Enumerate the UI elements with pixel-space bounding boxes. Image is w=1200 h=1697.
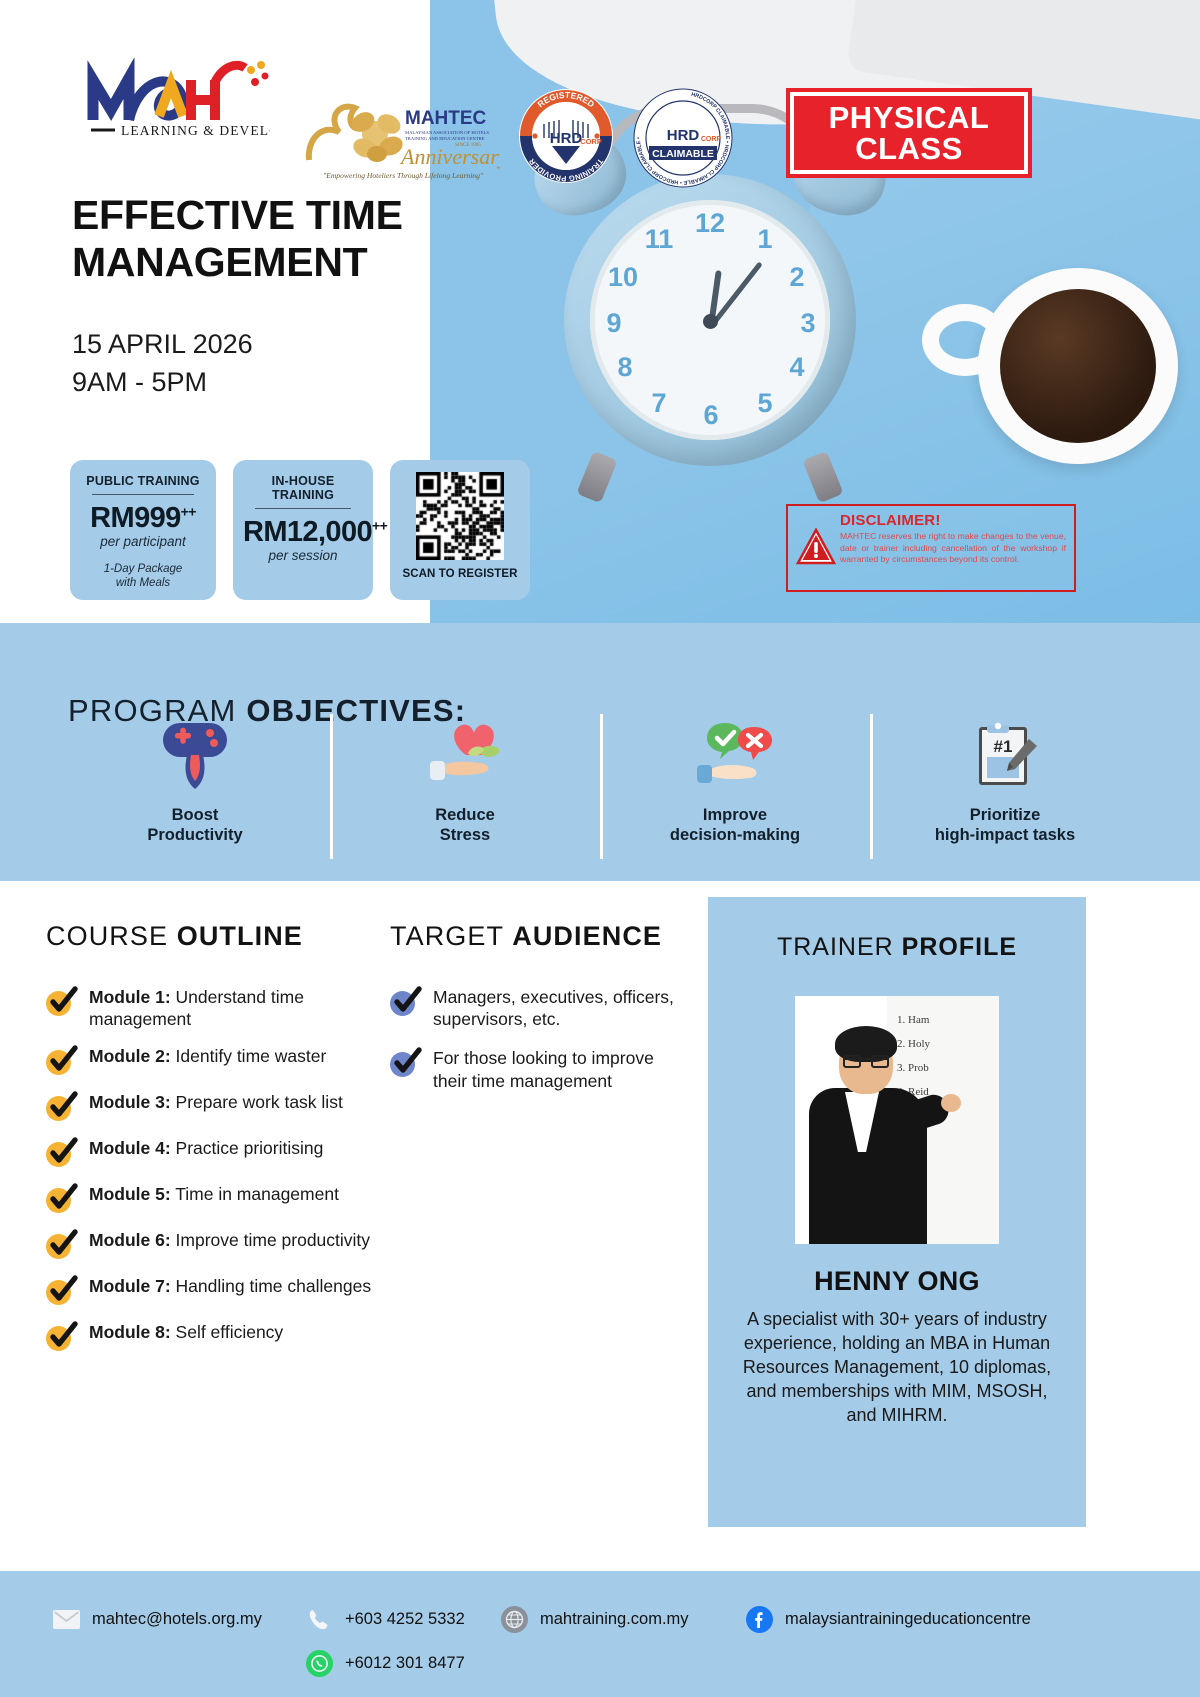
- course-module-list: Module 1: Understand time managementModu…: [46, 986, 376, 1352]
- footer-website-text: mahtraining.com.my: [540, 1610, 689, 1629]
- check-icon: [46, 1230, 76, 1260]
- check-icon: [390, 987, 420, 1017]
- mah-learning-development-logo: LEARNING & DEVELOPMENT: [85, 58, 270, 140]
- facebook-icon: [745, 1605, 773, 1633]
- course-module-text: Module 7: Handling time challenges: [89, 1275, 371, 1297]
- clipboard-number-one-icon: #1: [878, 719, 1132, 791]
- target-audience-column: TARGET AUDIENCE Managers, executives, of…: [390, 921, 690, 1109]
- objective-3-line1: Prioritize: [878, 805, 1132, 825]
- physical-class-badge: PHYSICAL CLASS: [790, 92, 1028, 174]
- course-module-label: Module 7:: [89, 1276, 171, 1296]
- footer-email[interactable]: mahtec@hotels.org.my: [52, 1605, 262, 1633]
- hrd-badge-text: HRD: [550, 130, 583, 147]
- trainer-photo: 1. Ham 2. Holy 3. Prob 4. Reid 5. Strat: [795, 996, 999, 1244]
- pricing-inhouse-heading: IN-HOUSE TRAINING: [243, 474, 363, 502]
- hrd-corp-text: CORP: [580, 137, 602, 146]
- course-module-item: Module 6: Improve time productivity: [46, 1229, 376, 1260]
- phone-icon: [305, 1605, 333, 1633]
- target-audience-item: Managers, executives, officers, supervis…: [390, 986, 690, 1030]
- objective-1-line1: Reduce: [338, 805, 592, 825]
- trainer-hand: [941, 1094, 961, 1112]
- pricing-inhouse-price: RM12,000++: [243, 516, 387, 549]
- clock-num-2: 2: [782, 262, 812, 293]
- mahtec-wordmark: MAHTEC: [405, 108, 487, 129]
- trainer-profile-panel: TRAINER PROFILE 1. Ham 2. Holy 3. Prob 4…: [708, 897, 1086, 1527]
- email-icon: [52, 1605, 80, 1633]
- footer-section: mahtec@hotels.org.my +603 4252 5332 +601…: [0, 1571, 1200, 1697]
- footer-facebook[interactable]: malaysiantrainingeducationcentre: [745, 1605, 1031, 1633]
- trainer-glasses: [843, 1058, 889, 1070]
- title-line-2: MANAGEMENT: [72, 239, 472, 286]
- clock-num-1: 1: [750, 224, 780, 255]
- target-audience-item: For those looking to improve their time …: [390, 1047, 690, 1091]
- objective-2-line1: Improve: [608, 805, 862, 825]
- qr-card[interactable]: SCAN TO REGISTER: [390, 460, 530, 600]
- event-time: 9AM - 5PM: [72, 363, 253, 401]
- course-outline-heading: COURSE OUTLINE: [46, 921, 376, 952]
- hrd-corp-claimable-badge: HRD CORP CLAIMABLE HRDCORP CLAIMABLE • H…: [633, 88, 733, 188]
- check-icon: [46, 1184, 76, 1214]
- objective-0-line2: Productivity: [68, 825, 322, 845]
- footer-phone-text: +603 4252 5332: [345, 1610, 465, 1629]
- hrd-claimable-corp-text: CORP: [701, 136, 722, 143]
- check-icon: [46, 1092, 76, 1122]
- clock-body: 12 1 2 3 4 5 6 7 8 9 10 11: [564, 174, 856, 466]
- clipboard-rank-text: #1: [994, 737, 1013, 756]
- course-outline-heading-light: COURSE: [46, 921, 177, 951]
- clock-face: 12 1 2 3 4 5 6 7 8 9 10 11: [590, 200, 830, 440]
- course-module-text: Module 3: Prepare work task list: [89, 1091, 343, 1113]
- course-module-text: Module 2: Identify time waster: [89, 1045, 326, 1067]
- clock-pivot: [703, 314, 718, 329]
- coffee-cup: [978, 268, 1178, 464]
- clock-num-5: 5: [750, 388, 780, 419]
- course-module-text: Module 4: Practice prioritising: [89, 1137, 323, 1159]
- claimable-label: CLAIMABLE: [652, 148, 714, 160]
- disclaimer-title: DISCLAIMER!: [840, 512, 1066, 529]
- footer-website[interactable]: mahtraining.com.my: [500, 1605, 689, 1633]
- coffee-liquid: [1000, 289, 1156, 443]
- title-line-1: EFFECTIVE TIME: [72, 192, 472, 239]
- mahtec-anniversary-logo: MAHTEC MALAYSIAN ASSOCIATION OF HOTELS T…: [305, 98, 500, 184]
- target-audience-heading-bold: AUDIENCE: [512, 921, 662, 951]
- disclaimer-body: MAHTEC reserves the right to make change…: [840, 531, 1066, 566]
- clock-num-4: 4: [782, 352, 812, 383]
- divider: [255, 508, 351, 509]
- clock-num-12: 12: [695, 208, 725, 239]
- pricing-card-inhouse: IN-HOUSE TRAINING RM12,000++ per session: [233, 460, 373, 600]
- check-icon: [46, 1046, 76, 1076]
- target-audience-text: Managers, executives, officers, supervis…: [433, 986, 690, 1030]
- pricing-public-note-2: with Meals: [80, 576, 206, 590]
- mahtec-fullname-line2: TRAINING AND EDUCATION CENTRE: [405, 136, 485, 141]
- objective-prioritize-high-impact-tasks: #1 Prioritize high-impact tasks: [870, 719, 1140, 845]
- course-outline-column: COURSE OUTLINE Module 1: Understand time…: [46, 921, 376, 1367]
- footer-facebook-text: malaysiantrainingeducationcentre: [785, 1610, 1031, 1629]
- course-module-item: Module 1: Understand time management: [46, 986, 376, 1030]
- objectives-grid: Boost Productivity Reduce Stress: [60, 719, 1140, 845]
- hibiscus-30-mark: [309, 107, 406, 162]
- pricing-public-price: RM999++: [90, 502, 196, 535]
- pricing-inhouse-unit: per session: [243, 548, 363, 563]
- trainer-heading-bold: PROFILE: [902, 933, 1017, 961]
- course-module-text: Module 1: Understand time management: [89, 986, 376, 1030]
- cup-handle: [922, 304, 1008, 376]
- program-objectives-section: PROGRAM OBJECTIVES: Boost Productivity: [0, 623, 1200, 881]
- event-datetime: 15 APRIL 2026 9AM - 5PM: [72, 325, 253, 402]
- clock-num-11: 11: [644, 224, 674, 255]
- course-module-label: Module 2:: [89, 1046, 171, 1066]
- target-audience-text: For those looking to improve their time …: [433, 1047, 690, 1091]
- hero-section: 12 1 2 3 4 5 6 7 8 9 10 11: [0, 0, 1200, 625]
- course-module-item: Module 2: Identify time waster: [46, 1045, 376, 1076]
- course-module-label: Module 6:: [89, 1230, 171, 1250]
- course-outline-heading-bold: OUTLINE: [177, 921, 303, 951]
- target-audience-list: Managers, executives, officers, supervis…: [390, 986, 690, 1092]
- pricing-inhouse-amount: RM12,000: [243, 516, 372, 548]
- clock-num-7: 7: [644, 388, 674, 419]
- anniversary-word: Anniversary: [399, 144, 500, 169]
- physical-class-line2: CLASS: [855, 133, 963, 164]
- pricing-public-amount: RM999: [90, 502, 181, 534]
- qr-label: SCAN TO REGISTER: [400, 568, 520, 580]
- check-icon: [46, 987, 76, 1017]
- warning-triangle-icon: [796, 528, 836, 566]
- trainer-heading-light: TRAINER: [777, 933, 902, 961]
- objective-boost-productivity: Boost Productivity: [60, 719, 330, 845]
- course-module-label: Module 1:: [89, 987, 171, 1007]
- course-module-item: Module 5: Time in management: [46, 1183, 376, 1214]
- target-audience-heading-light: TARGET: [390, 921, 512, 951]
- objective-label-1: Reduce Stress: [338, 805, 592, 845]
- check-icon: [390, 1048, 420, 1078]
- mahtec-fullname-line: MALAYSIAN ASSOCIATION OF HOTELS: [405, 130, 489, 135]
- course-module-text: Module 8: Self efficiency: [89, 1321, 283, 1343]
- hrd-corp-registered-training-provider-badge: HRD CORP REGISTERED TRAINING PROVIDER: [518, 88, 614, 184]
- anniversary-since: SINCE 1995: [455, 143, 481, 148]
- clock-num-8: 8: [610, 352, 640, 383]
- trainer-heading: TRAINER PROFILE: [708, 897, 1086, 962]
- objective-label-0: Boost Productivity: [68, 805, 322, 845]
- objective-2-line2: decision-making: [608, 825, 862, 845]
- check-icon: [46, 1322, 76, 1352]
- objective-3-line2: high-impact tasks: [878, 825, 1132, 845]
- clock-num-9: 9: [599, 308, 629, 339]
- whiteboard-line-2: 3. Prob: [897, 1062, 929, 1074]
- footer-whatsapp[interactable]: +6012 301 8477: [305, 1649, 465, 1677]
- course-module-item: Module 8: Self efficiency: [46, 1321, 376, 1352]
- mahtec-logo-mark: MAHTEC MALAYSIAN ASSOCIATION OF HOTELS T…: [305, 98, 500, 184]
- event-date: 15 APRIL 2026: [72, 325, 253, 363]
- mah-logo-tagline: LEARNING & DEVELOPMENT: [121, 123, 270, 138]
- whatsapp-icon: [305, 1649, 333, 1677]
- course-module-text: Module 5: Time in management: [89, 1183, 339, 1205]
- objective-1-line2: Stress: [338, 825, 592, 845]
- check-icon: [46, 1276, 76, 1306]
- clock-num-3: 3: [793, 308, 823, 339]
- pricing-row: PUBLIC TRAINING RM999++ per participant …: [70, 460, 530, 600]
- whiteboard-line-0: 1. Ham: [897, 1014, 929, 1026]
- course-module-label: Module 8:: [89, 1322, 171, 1342]
- footer-phone[interactable]: +603 4252 5332: [305, 1605, 465, 1633]
- clock-foot-right: [802, 451, 843, 503]
- trainer-bio: A specialist with 30+ years of industry …: [732, 1307, 1062, 1428]
- objective-label-3: Prioritize high-impact tasks: [878, 805, 1132, 845]
- hand-heart-leaf-icon: [338, 719, 592, 791]
- alarm-clock-illustration: 12 1 2 3 4 5 6 7 8 9 10 11: [540, 130, 880, 470]
- pricing-inhouse-suffix: ++: [372, 517, 387, 533]
- pricing-card-public: PUBLIC TRAINING RM999++ per participant …: [70, 460, 216, 600]
- body-section: COURSE OUTLINE Module 1: Understand time…: [0, 881, 1200, 1571]
- clock-num-6: 6: [696, 400, 726, 431]
- footer-email-text: mahtec@hotels.org.my: [92, 1610, 262, 1629]
- check-icon: [46, 1138, 76, 1168]
- clock-num-10: 10: [608, 262, 638, 293]
- course-module-label: Module 5:: [89, 1184, 171, 1204]
- pricing-public-unit: per participant: [80, 534, 206, 549]
- objective-reduce-stress: Reduce Stress: [330, 719, 600, 845]
- pricing-public-suffix: ++: [181, 503, 196, 519]
- course-module-item: Module 7: Handling time challenges: [46, 1275, 376, 1306]
- target-audience-heading: TARGET AUDIENCE: [390, 921, 690, 952]
- poster-page: 12 1 2 3 4 5 6 7 8 9 10 11: [0, 0, 1200, 1697]
- rocket-gamepad-icon: [68, 719, 322, 791]
- pricing-public-heading: PUBLIC TRAINING: [80, 474, 206, 488]
- course-module-text: Module 6: Improve time productivity: [89, 1229, 370, 1251]
- divider: [92, 494, 194, 495]
- course-module-item: Module 4: Practice prioritising: [46, 1137, 376, 1168]
- globe-icon: [500, 1605, 528, 1633]
- mah-logo-mark: LEARNING & DEVELOPMENT: [85, 58, 270, 140]
- course-module-item: Module 3: Prepare work task list: [46, 1091, 376, 1122]
- hand-check-cross-icon: [608, 719, 862, 791]
- qr-code[interactable]: [416, 472, 504, 560]
- objective-improve-decision-making: Improve decision-making: [600, 719, 870, 845]
- anniversary-tagline: "Empowering Hoteliers Through Lifelong L…: [323, 171, 484, 180]
- whiteboard-line-1: 2. Holy: [897, 1038, 930, 1050]
- course-module-label: Module 3:: [89, 1092, 171, 1112]
- page-title: EFFECTIVE TIME MANAGEMENT: [72, 192, 472, 285]
- objective-label-2: Improve decision-making: [608, 805, 862, 845]
- trainer-name: HENNY ONG: [708, 1266, 1086, 1297]
- objective-0-line1: Boost: [68, 805, 322, 825]
- pricing-public-note-1: 1-Day Package: [80, 562, 206, 576]
- course-module-label: Module 4:: [89, 1138, 171, 1158]
- hrd-claimable-hrd-text: HRD: [667, 127, 700, 144]
- footer-whatsapp-text: +6012 301 8477: [345, 1654, 465, 1673]
- pricing-public-note: 1-Day Package with Meals: [80, 562, 206, 591]
- logo-bar: LEARNING & DEVELOPMENT MAHTEC MALA: [0, 40, 1200, 160]
- disclaimer-box: DISCLAIMER! MAHTEC reserves the right to…: [786, 504, 1076, 592]
- physical-class-line1: PHYSICAL: [829, 102, 990, 133]
